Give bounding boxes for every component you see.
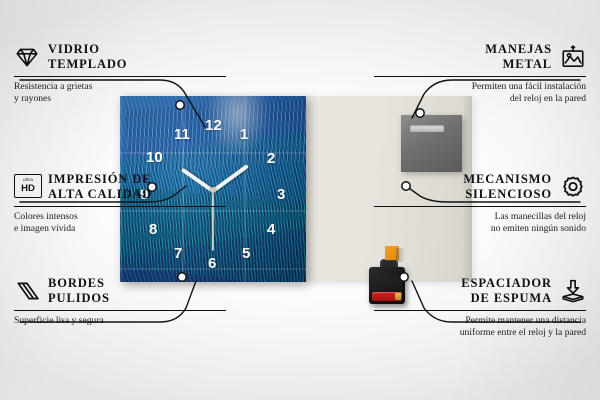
clock-numeral-11: 11 [174,127,190,142]
feature-sub-line1: Las manecillas del reloj [374,211,586,223]
metal-hanger-plate [401,115,462,172]
clock-numeral-3: 3 [277,187,285,202]
feature-title-line2: TEMPLADO [48,57,127,72]
feature-sub-line2: del reloj en la pared [374,93,586,105]
clock-numeral-2: 2 [267,151,275,166]
picture-hanger-icon [560,44,586,70]
hanger-slot [410,125,444,132]
feature-sub-line1: Permiten una fácil instalación [374,81,586,93]
clock-numeral-6: 6 [208,256,216,271]
clock-numeral-5: 5 [242,246,250,261]
feature-sub-line1: Colores intensos [14,211,226,223]
feature-sub-line2: y rayones [14,93,226,105]
feature-title-line2: DE ESPUMA [461,291,552,306]
feature-title-line2: ALTA CALIDAD [48,187,152,202]
feature-divider [14,206,226,207]
polished-edges-icon [14,278,40,304]
feature-sub-line2: no emiten ningún sonido [374,223,586,235]
feature-title-line2: METAL [485,57,552,72]
feature-sub-line1: Resistencia a grietas [14,81,226,93]
feature-title-line1: BORDES [48,276,110,291]
clock-numeral-4: 4 [267,222,275,237]
clock-numeral-7: 7 [174,246,182,261]
foam-spacer-sample [385,246,399,260]
feature-sub-line1: Superficie lisa y segura [14,315,226,327]
feature-title-line1: ESPACIADOR [461,276,552,291]
feature-title-line2: SILENCIOSO [463,187,552,202]
clock-numeral-1: 1 [240,127,248,142]
feature-vidrio-templado: VIDRIO TEMPLADO Resistencia a grietas y … [14,42,226,105]
feature-title-line1: IMPRESIÓN DE [48,172,152,187]
clock-numeral-10: 10 [146,150,163,165]
clock-numeral-12: 12 [205,118,222,133]
feature-bordes-pulidos: BORDES PULIDOS Superficie lisa y segura [14,276,226,327]
feature-divider [374,310,586,311]
feature-impresion-alta-calidad: ultra HD IMPRESIÓN DE ALTA CALIDAD Color… [14,172,226,235]
feature-divider [374,76,586,77]
ultra-hd-big-label: HD [21,184,35,194]
diamond-icon [14,44,40,70]
gear-icon [560,174,586,200]
feature-manejas-metal: MANEJAS METAL Permiten una fácil instala… [374,42,586,105]
feature-title-line1: MANEJAS [485,42,552,57]
feature-sub-line2: uniforme entre el reloj y la pared [374,327,586,339]
foam-spacer-icon [560,278,586,304]
feature-sub-line1: Permite mantener una distancia [374,315,586,327]
infographic-canvas: 12 1 2 3 4 5 6 7 8 9 10 11 [0,0,600,400]
feature-divider [14,76,226,77]
feature-title-line1: MECANISMO [463,172,552,187]
feature-divider [14,310,226,311]
feature-title-line2: PULIDOS [48,291,110,306]
feature-divider [374,206,586,207]
feature-title-line1: VIDRIO [48,42,127,57]
feature-sub-line2: e imagen vívida [14,223,226,235]
ultra-hd-icon: ultra HD [14,174,40,200]
feature-mecanismo-silencioso: MECANISMO SILENCIOSO Las manecillas del … [374,172,586,235]
feature-espaciador-de-espuma: ESPACIADOR DE ESPUMA Permite mantener un… [374,276,586,339]
